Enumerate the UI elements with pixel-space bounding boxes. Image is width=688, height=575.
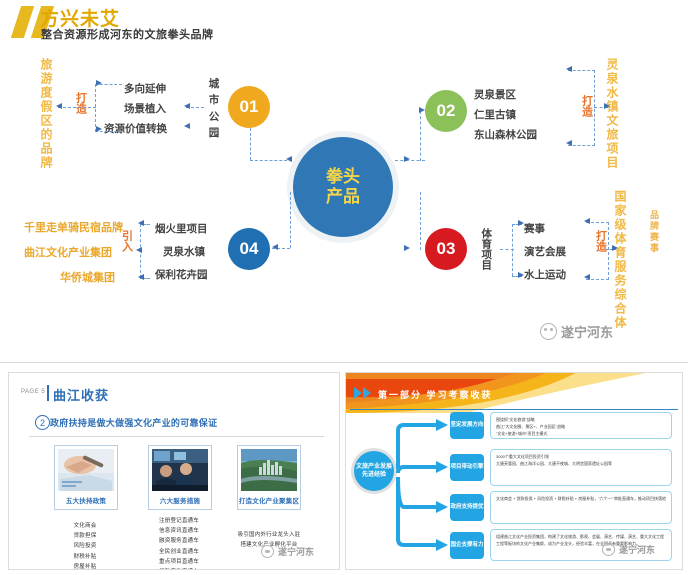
branch-node-04: 04 — [228, 228, 270, 270]
center-hub-label: 文旅产业发展先进经验 — [354, 451, 394, 491]
arrow-icon — [584, 274, 590, 280]
top-slide: 方兴未艾 整合资源形成河东的文旅拳头品牌 拳头 产品 01 城 市 公 园 多向… — [0, 0, 688, 363]
arrow-icon — [518, 220, 524, 226]
stage-box-2: 项目带动引擎 — [450, 454, 484, 481]
banner-title: 第一部分 学习考察收获 — [378, 388, 493, 401]
arrow-icon — [96, 80, 102, 86]
arrow-icon — [136, 247, 142, 253]
connector — [586, 222, 609, 280]
card-five-policies[interactable]: 五大扶持政策 — [54, 445, 118, 510]
card-six-services[interactable]: 六大服务措施 — [148, 445, 212, 510]
list-item: 吸引国内外行业龙头入驻 — [221, 530, 317, 540]
stage-text-2: 3000个重大文化项目投资引领 大唐芙蓉园、曲江海洋公园、大唐不夜城、大明宫国家… — [490, 449, 672, 486]
branch-02-outcome: 灵泉水镇文旅项目 — [604, 58, 621, 170]
connector — [512, 224, 513, 276]
center-node-line1: 拳头 — [326, 167, 360, 187]
watermark: 遂宁河东 — [602, 543, 655, 556]
card-cluster-zone[interactable]: 打造文化产业聚集区 — [237, 445, 301, 510]
watermark: 遂宁河东 — [540, 322, 613, 341]
branch-03-outcome: 国家级体育服务综合体 — [612, 190, 629, 330]
center-node-hero-product: 拳头 产品 — [293, 137, 393, 237]
branch-01-outcome: 旅游度假区的品牌 — [38, 58, 55, 170]
arrow-icon — [566, 140, 572, 146]
card-caption: 六大服务措施 — [149, 491, 211, 509]
branch-01-detail-2: 场景植入 — [124, 102, 166, 118]
branch-node-02: 02 — [425, 90, 467, 132]
list-item: 房屋补贴 — [54, 562, 116, 570]
branch-node-03: 03 — [425, 228, 467, 270]
list-item: 融资服务直通车 — [141, 536, 217, 546]
slide-header: 方兴未艾 整合资源形成河东的文旅拳头品牌 — [0, 0, 688, 44]
list-item: 注册登记直通车 — [141, 516, 217, 526]
branch-node-01: 01 — [228, 86, 270, 128]
arrow-icon — [138, 220, 144, 226]
arrow-icon — [584, 218, 590, 224]
arrow-icon — [272, 244, 278, 250]
section-number-badge: 2 — [35, 415, 50, 430]
arrow-icon — [56, 103, 62, 109]
branch-number-04: 04 — [240, 239, 259, 259]
branch-04-outcome-2: 曲江文化产业集团 — [24, 245, 112, 262]
list-item: 信息资讯直通车 — [141, 526, 217, 536]
center-node-line2: 产品 — [326, 187, 360, 207]
branch-04-outcome-3: 华侨城集团 — [60, 270, 115, 287]
list-item: 财税补贴 — [54, 552, 116, 562]
arrow-icon — [604, 103, 610, 109]
arrow-icon — [518, 272, 524, 278]
bottom-left-slide: PAGE 5 曲江收获 2 政府扶持是做大做强文化产业的可靠保证 五大扶持政策 — [8, 372, 340, 570]
branch-04-outcome-1: 千里走单骑民宿品牌 — [24, 220, 123, 237]
watermark: 遂宁河东 — [261, 545, 314, 558]
list-item: 贷款担保 — [54, 531, 116, 541]
branch-04-detail-3: 保利花卉园 — [155, 268, 208, 284]
connector — [420, 111, 421, 161]
branch-03-item-label: 体育项目 — [478, 228, 494, 270]
wechat-icon — [602, 543, 615, 556]
page-label: PAGE 5 — [21, 389, 45, 395]
section-title: 政府扶持是做大做强文化产业的可靠保证 — [50, 416, 217, 429]
list-item: 行政审批直通车 — [141, 567, 217, 570]
chevron-right-icon — [354, 387, 371, 399]
arrow-icon — [566, 66, 572, 72]
branch-03-detail-3: 水上运动 — [524, 268, 566, 284]
list-item: 重点项目直通车 — [141, 557, 217, 567]
list-item: 文化商会 — [54, 521, 116, 531]
connector — [58, 107, 96, 108]
arrow-icon — [138, 274, 144, 280]
branch-04-detail-1: 烟火里项目 — [155, 222, 208, 238]
branch-03-outcome2: 品牌赛事 — [648, 210, 661, 254]
list-column-2: 注册登记直通车 信息资讯直通车 融资服务直通车 全民创业直通车 重点项目直通车 … — [141, 516, 217, 570]
branch-01-verb: 打造 — [72, 92, 89, 114]
wechat-icon — [261, 545, 274, 558]
hand-signing-document-photo — [58, 449, 114, 491]
arrow-icon — [404, 245, 410, 251]
branch-03-detail-1: 赛事 — [524, 222, 545, 238]
branch-04-detail-2: 灵泉水镇 — [163, 245, 205, 261]
page-subtitle: 整合资源形成河东的文旅拳头品牌 — [41, 26, 214, 42]
slide-title: 曲江收获 — [53, 385, 109, 404]
branch-02-detail-1: 灵泉景区 — [474, 88, 516, 104]
aerial-city-photo — [241, 449, 297, 491]
list-column-1: 文化商会 贷款担保 风险投资 财税补贴 房屋补贴 — [54, 521, 116, 570]
watermark-label: 遂宁河东 — [619, 543, 655, 556]
stage-box-3: 政府支持提优 — [450, 494, 484, 521]
branch-number-03: 03 — [437, 239, 456, 259]
watermark-label: 遂宁河东 — [278, 545, 314, 558]
stage-box-1: 坚定发展方向 — [450, 412, 484, 439]
branch-01-detail-1: 多向延伸 — [124, 82, 166, 98]
stage-box-4: 国企支撑有力 — [450, 532, 484, 559]
card-caption: 五大扶持政策 — [55, 491, 117, 509]
card-caption: 打造文化产业聚集区 — [238, 491, 300, 509]
connector — [568, 70, 595, 146]
branch-03-detail-2: 演艺会展 — [524, 245, 566, 261]
arrow-icon — [612, 245, 618, 251]
stage-text-3: 文化商会 + 贷款担保 + 风险投资 + 财税补贴 + 房屋补贴，“六个一” 审… — [490, 491, 672, 524]
divider — [29, 436, 324, 437]
branch-number-01: 01 — [240, 97, 259, 117]
connector — [95, 84, 122, 132]
title-divider — [47, 385, 49, 401]
arrow-icon — [184, 123, 190, 129]
arrow-icon — [419, 107, 425, 113]
arrow-icon — [96, 126, 102, 132]
arrow-icon — [184, 103, 190, 109]
arrow-icon — [286, 156, 292, 162]
banner-underline — [350, 409, 678, 410]
list-item: 风险投资 — [54, 541, 116, 551]
wechat-icon — [540, 323, 557, 340]
branch-02-detail-2: 仁里古镇 — [474, 108, 516, 124]
branch-01-item-label: 城 市 公 园 — [206, 76, 222, 141]
bracket-connectors — [390, 417, 460, 553]
connector — [420, 192, 421, 250]
branch-number-02: 02 — [437, 101, 456, 121]
stage-text-1: 围绕抓“文化旅游”战略 曲江“大文化圈、景区+、产业园区”战略 “文化+旅游+城… — [490, 412, 672, 439]
office-staff-photo — [152, 449, 208, 491]
arrow-icon — [404, 156, 410, 162]
list-item: 全民创业直通车 — [141, 547, 217, 557]
watermark-label: 遂宁河东 — [561, 322, 613, 341]
connector — [250, 128, 251, 160]
bottom-right-slide: 第一部分 学习考察收获 文旅产业发展先进经验 坚定发展方向 项目带动引擎 政府支… — [345, 372, 683, 570]
branch-02-detail-3: 东山森林公园 — [474, 128, 537, 144]
connector — [290, 192, 291, 248]
